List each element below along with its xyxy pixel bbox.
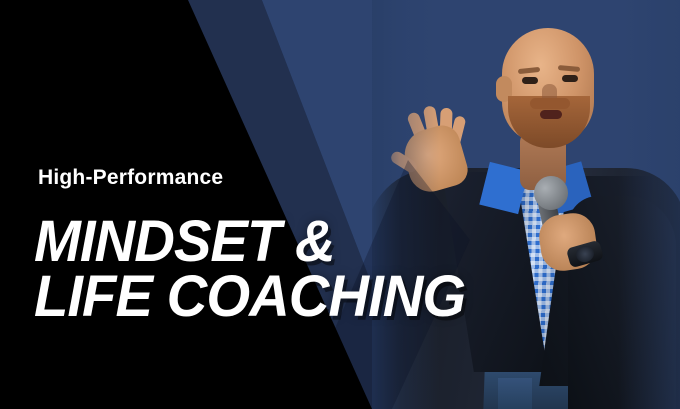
mouth bbox=[540, 110, 562, 119]
jeans-pocket bbox=[498, 378, 532, 409]
eye-right bbox=[562, 75, 578, 82]
thumbnail-canvas: High-Performance MINDSET & LIFE COACHING bbox=[0, 0, 680, 409]
mustache bbox=[530, 98, 570, 109]
title-line-2: LIFE COACHING bbox=[34, 269, 655, 324]
page-title: MINDSET & LIFE COACHING bbox=[34, 214, 655, 324]
kicker-text: High-Performance bbox=[38, 167, 223, 188]
eye-left bbox=[522, 77, 538, 84]
